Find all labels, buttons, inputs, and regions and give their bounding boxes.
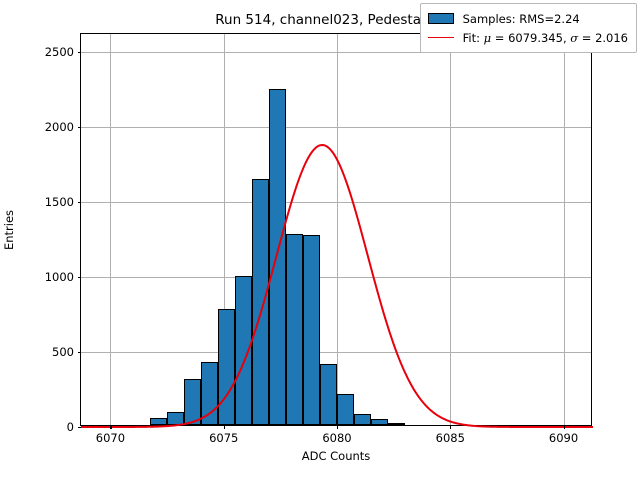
x-axis-label: ADC Counts	[80, 449, 592, 463]
chart-figure: Run 514, channel023, Pedestal Entries 05…	[0, 0, 640, 480]
y-axis-tick-label: 1000	[45, 270, 74, 284]
x-axis-tick	[337, 425, 338, 429]
x-axis-tick-label: 6090	[549, 431, 578, 445]
y-axis-label-text: Entries	[2, 209, 16, 249]
chart-legend: Samples: RMS=2.24 Fit: μ = 6079.345, σ =…	[420, 3, 637, 53]
legend-item-samples: Samples: RMS=2.24	[428, 9, 628, 28]
legend-label-samples: Samples: RMS=2.24	[463, 12, 580, 26]
y-axis-tick-label: 2000	[45, 120, 74, 134]
legend-label-fit: Fit: μ = 6079.345, σ = 2.016	[463, 31, 628, 45]
legend-fit-sigma-value: = 2.016	[578, 31, 628, 45]
fit-curve-path	[81, 145, 593, 427]
y-axis-tick	[78, 277, 82, 278]
y-axis-tick	[78, 52, 82, 53]
y-axis-tick-label: 500	[52, 345, 74, 359]
legend-swatch-fit-icon	[428, 37, 454, 38]
gaussian-fit-curve	[81, 34, 593, 427]
legend-fit-mu-symbol: μ	[484, 31, 491, 45]
legend-item-fit: Fit: μ = 6079.345, σ = 2.016	[428, 28, 628, 47]
plot-axes: 0500100015002000250060706075608060856090	[80, 33, 592, 426]
legend-fit-mu-value: = 6079.345,	[491, 31, 570, 45]
y-axis-tick	[78, 352, 82, 353]
y-axis-tick	[78, 127, 82, 128]
x-axis-tick-label: 6075	[209, 431, 238, 445]
legend-fit-prefix: Fit:	[463, 31, 484, 45]
x-axis-tick	[450, 425, 451, 429]
legend-swatch-samples-icon	[428, 13, 454, 24]
x-axis-tick	[564, 425, 565, 429]
x-axis-tick-label: 6080	[322, 431, 351, 445]
x-axis-tick	[224, 425, 225, 429]
x-axis-tick-label: 6070	[96, 431, 125, 445]
y-axis-tick-label: 0	[67, 420, 74, 434]
y-axis-tick-label: 2500	[45, 45, 74, 59]
y-axis-tick-label: 1500	[45, 195, 74, 209]
x-axis-tick-label: 6085	[436, 431, 465, 445]
y-axis-label: Entries	[0, 33, 18, 426]
legend-fit-sigma-symbol: σ	[570, 31, 578, 45]
y-axis-tick	[78, 202, 82, 203]
y-axis-tick	[78, 427, 82, 428]
x-axis-tick	[110, 425, 111, 429]
